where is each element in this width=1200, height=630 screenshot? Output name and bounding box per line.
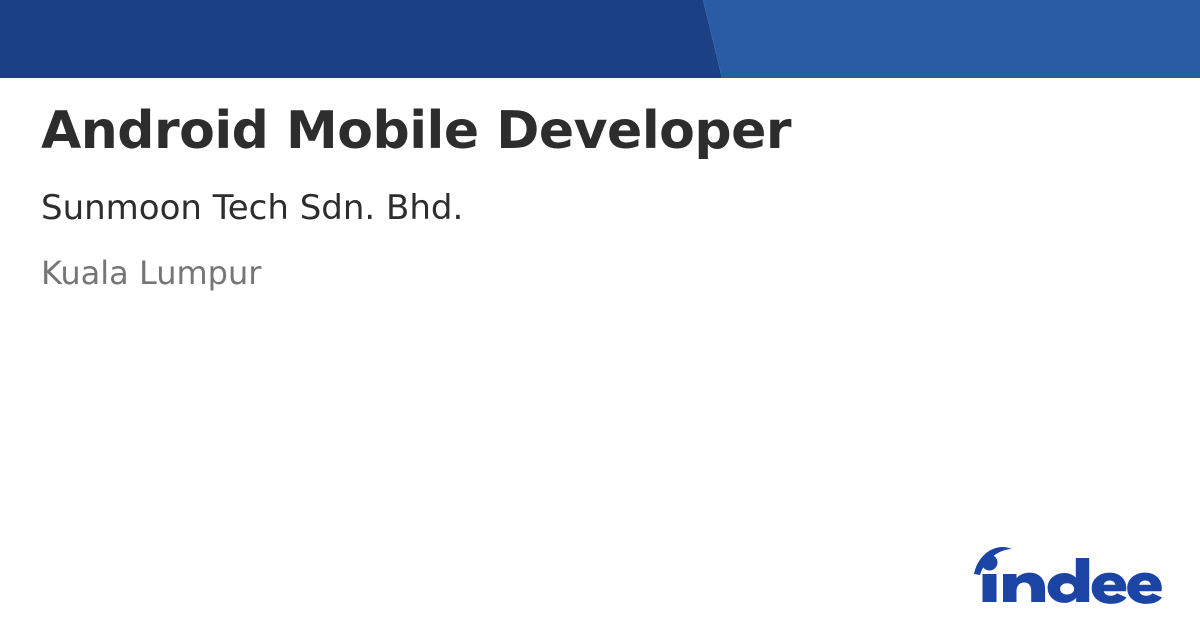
indeed-wordmark-icon — [968, 540, 1168, 610]
company-name: Sunmoon Tech Sdn. Bhd. — [41, 188, 463, 229]
header-band-left — [0, 0, 760, 78]
header-banner — [0, 0, 1200, 78]
job-location: Kuala Lumpur — [41, 254, 261, 292]
page-title: Android Mobile Developer — [41, 102, 791, 162]
indeed-logo — [968, 540, 1168, 610]
